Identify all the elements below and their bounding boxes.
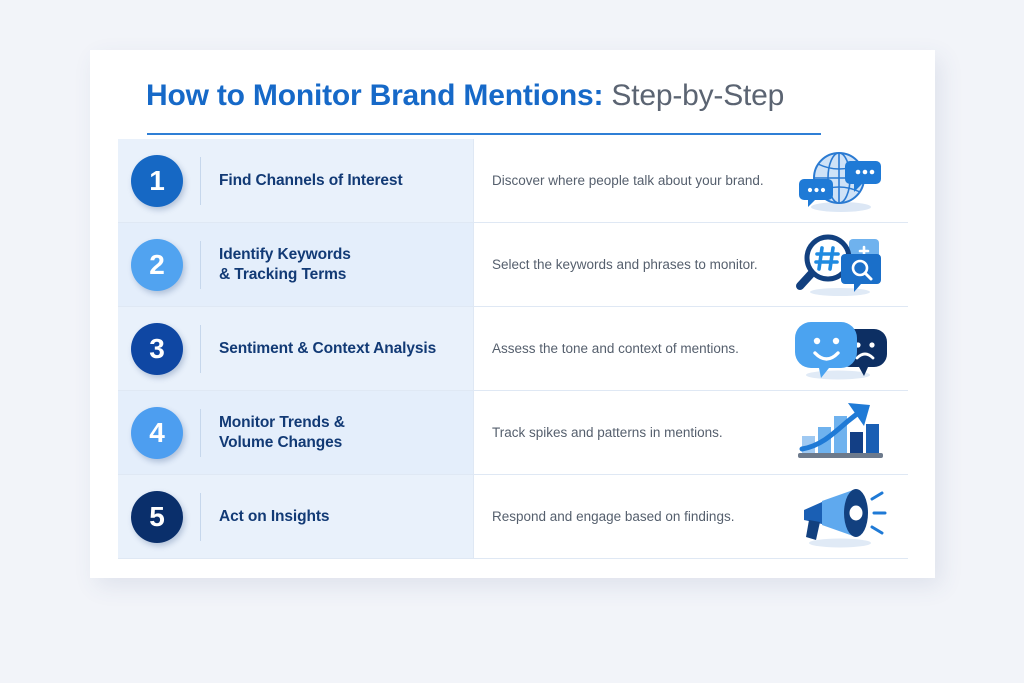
step-number-badge: 4 (131, 407, 183, 459)
step-number-label: 4 (149, 419, 165, 447)
title-main-text: How to Monitor Brand Mentions: (146, 79, 603, 112)
step-row[interactable]: 5 Act on Insights Respond and engage bas… (118, 475, 908, 559)
step-title: Identify Keywords & Tracking Terms (219, 245, 351, 285)
step-title: Sentiment & Context Analysis (219, 339, 436, 359)
badge-divider (200, 241, 201, 289)
badge-divider (200, 157, 201, 205)
step-description: Respond and engage based on findings. (492, 508, 788, 526)
title-underline-rule (147, 133, 821, 135)
step-title: Find Channels of Interest (219, 171, 403, 191)
step-title: Act on Insights (219, 507, 329, 527)
step-title-line1: Find Channels of Interest (219, 172, 403, 189)
step-title-line1: Act on Insights (219, 508, 329, 525)
step-number-badge: 5 (131, 491, 183, 543)
step-title: Monitor Trends & Volume Changes (219, 413, 345, 453)
step-number-label: 1 (149, 167, 165, 195)
badge-divider (200, 325, 201, 373)
badge-divider (200, 493, 201, 541)
infographic-card: How to Monitor Brand Mentions: Step-by-S… (90, 50, 935, 578)
step-left-panel: 2 Identify Keywords & Tracking Terms (118, 223, 473, 306)
step-description: Track spikes and patterns in mentions. (492, 424, 788, 442)
step-number-badge: 3 (131, 323, 183, 375)
step-row[interactable]: 4 Monitor Trends & Volume Changes Track … (118, 391, 908, 475)
bar-chart-arrow-icon (788, 398, 892, 468)
step-left-panel: 1 Find Channels of Interest (118, 139, 473, 222)
title-sub-text: Step-by-Step (603, 79, 784, 112)
step-number-badge: 2 (131, 239, 183, 291)
step-row[interactable]: 3 Sentiment & Context Analysis Assess th… (118, 307, 908, 391)
step-title-line2: Volume Changes (219, 433, 345, 453)
globe-chat-icon (788, 146, 892, 216)
megaphone-icon (788, 482, 892, 552)
step-left-panel: 4 Monitor Trends & Volume Changes (118, 391, 473, 474)
step-row[interactable]: 1 Find Channels of Interest Discover whe… (118, 139, 908, 223)
step-number-label: 3 (149, 335, 165, 363)
step-row[interactable]: 2 Identify Keywords & Tracking Terms Sel… (118, 223, 908, 307)
step-left-panel: 5 Act on Insights (118, 475, 473, 558)
sentiment-bubbles-icon (788, 314, 892, 384)
badge-divider (200, 409, 201, 457)
step-right-panel: Respond and engage based on findings. (473, 475, 908, 558)
step-right-panel: Select the keywords and phrases to monit… (473, 223, 908, 306)
step-number-label: 2 (149, 251, 165, 279)
step-title-line2: & Tracking Terms (219, 265, 351, 285)
step-number-label: 5 (149, 503, 165, 531)
step-title-line1: Sentiment & Context Analysis (219, 340, 436, 357)
magnifier-hashtag-icon (788, 230, 892, 300)
step-title-line1: Monitor Trends & (219, 414, 345, 431)
step-right-panel: Discover where people talk about your br… (473, 139, 908, 222)
step-left-panel: 3 Sentiment & Context Analysis (118, 307, 473, 390)
step-description: Discover where people talk about your br… (492, 172, 788, 190)
page-title: How to Monitor Brand Mentions: Step-by-S… (146, 74, 886, 118)
infographic-canvas: How to Monitor Brand Mentions: Step-by-S… (0, 0, 1024, 683)
step-right-panel: Track spikes and patterns in mentions. (473, 391, 908, 474)
step-title-line1: Identify Keywords (219, 246, 351, 263)
step-description: Assess the tone and context of mentions. (492, 340, 788, 358)
step-description: Select the keywords and phrases to monit… (492, 256, 788, 274)
step-right-panel: Assess the tone and context of mentions. (473, 307, 908, 390)
step-number-badge: 1 (131, 155, 183, 207)
steps-list: 1 Find Channels of Interest Discover whe… (118, 139, 908, 559)
